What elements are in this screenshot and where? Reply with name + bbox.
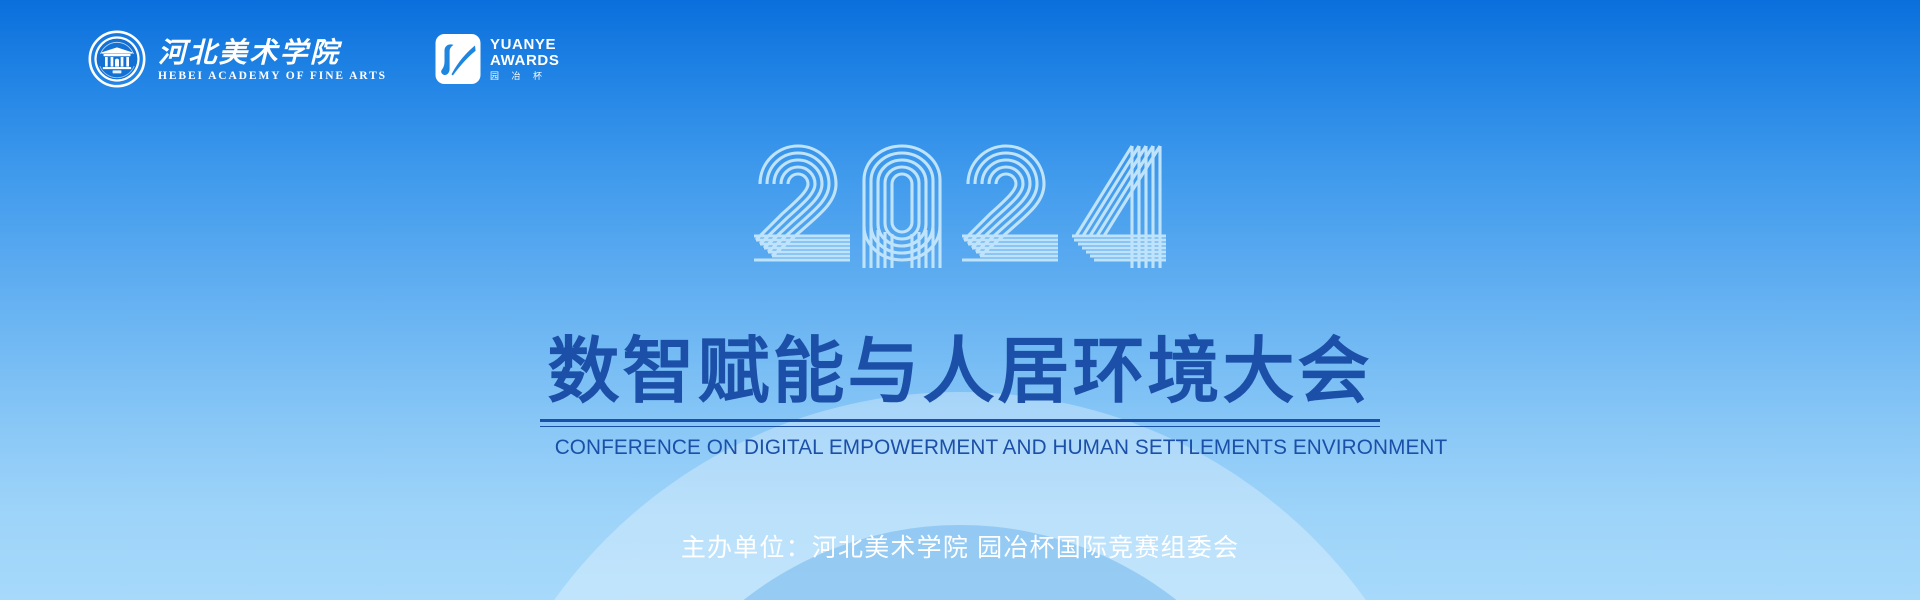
headline-block: 数智赋能与人居环境大会 CONFERENCE ON DIGITAL EMPOWE… [540,334,1380,460]
yuanye-wordmark: YUANYE AWARDS 园 冶 杯 [490,37,559,81]
conference-title-cn: 数智赋能与人居环境大会 [540,334,1380,410]
divider-rule-thin [540,426,1380,428]
conference-subtitle-en: CONFERENCE ON DIGITAL EMPOWERMENT AND HU… [555,436,1366,460]
yuanye-leaf-mark-icon [435,33,481,85]
logo-yuanye-awards[interactable]: YUANYE AWARDS 园 冶 杯 [435,33,559,85]
hebei-academy-name-en: HEBEI ACADEMY OF FINE ARTS [158,71,387,83]
yuanye-line2: AWARDS [490,53,559,69]
organizer-line: 主办单位：河北美术学院 园冶杯国际竞赛组委会 [510,533,1410,563]
conference-banner: 河北美术学院 HEBEI ACADEMY OF FINE ARTS YUANYE… [0,0,1920,600]
svg-text:河北美术学院: 河北美术学院 [158,37,343,69]
yuanye-name-cn: 园 冶 杯 [490,72,559,81]
logo-bar: 河北美术学院 HEBEI ACADEMY OF FINE ARTS YUANYE… [88,30,559,88]
title-divider [540,419,1380,427]
hebei-academy-seal-icon [88,30,146,88]
hebei-academy-wordmark: 河北美术学院 HEBEI ACADEMY OF FINE ARTS [158,35,387,83]
year-2024-stripes-icon [750,136,1170,296]
year-2024-graphic [750,136,1170,296]
divider-rule-thick [540,419,1380,422]
hebei-academy-name-cn-icon: 河北美术学院 [158,35,366,69]
logo-hebei-academy[interactable]: 河北美术学院 HEBEI ACADEMY OF FINE ARTS [88,30,387,88]
yuanye-line1: YUANYE [490,37,559,53]
